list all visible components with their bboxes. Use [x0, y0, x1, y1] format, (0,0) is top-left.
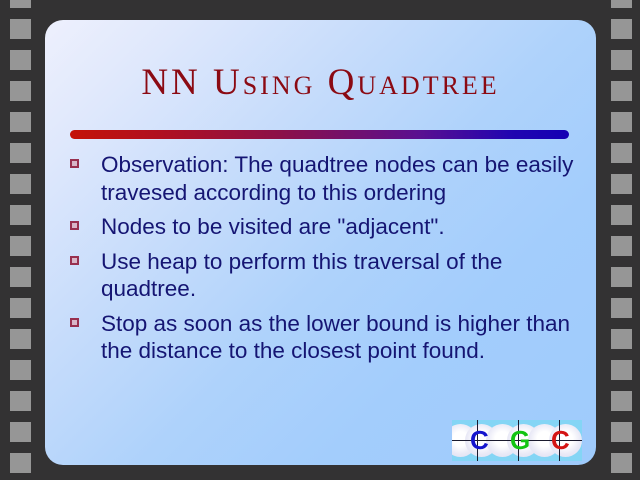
sprocket-hole: [10, 422, 31, 442]
sprocket-hole: [10, 19, 31, 39]
sprocket-hole: [10, 360, 31, 380]
bullet-list: Observation: The quadtree nodes can be e…: [67, 151, 596, 372]
sprocket-hole: [10, 298, 31, 318]
logo-letter-c-blue: C: [470, 427, 489, 453]
page-title: NN Using Quadtree: [45, 64, 596, 101]
logo-letter-g-green: G: [510, 427, 530, 453]
title-divider: [70, 130, 569, 139]
sprocket-hole: [10, 267, 31, 287]
sprocket-hole: [611, 19, 632, 39]
sprocket-hole: [611, 236, 632, 256]
square-bullet-icon: [70, 318, 79, 327]
sprocket-hole: [611, 453, 632, 473]
sprocket-hole: [611, 267, 632, 287]
film-strip-right: [600, 0, 640, 480]
sprocket-hole: [611, 329, 632, 349]
sprocket-hole: [611, 422, 632, 442]
list-item-text: Observation: The quadtree nodes can be e…: [101, 152, 573, 205]
sprocket-hole: [10, 143, 31, 163]
film-strip-frame: NN Using Quadtree Observation: The quadt…: [0, 0, 640, 480]
square-bullet-icon: [70, 256, 79, 265]
list-item-text: Stop as soon as the lower bound is highe…: [101, 311, 570, 364]
sprocket-hole: [10, 0, 31, 8]
sprocket-hole: [611, 143, 632, 163]
logo-letter-c-red: C: [551, 427, 570, 453]
sprocket-hole: [611, 298, 632, 318]
list-item-text: Use heap to perform this traversal of th…: [101, 249, 502, 302]
sprocket-hole: [10, 50, 31, 70]
square-bullet-icon: [70, 159, 79, 168]
sprocket-hole: [611, 205, 632, 225]
sprocket-hole: [10, 174, 31, 194]
sprocket-hole: [10, 391, 31, 411]
list-item: Nodes to be visited are "adjacent".: [67, 213, 596, 241]
list-item-text: Nodes to be visited are "adjacent".: [101, 214, 445, 239]
sprocket-hole: [611, 0, 632, 8]
sprocket-hole: [10, 453, 31, 473]
square-bullet-icon: [70, 221, 79, 230]
sprocket-hole: [10, 329, 31, 349]
sprocket-hole: [10, 205, 31, 225]
sprocket-hole: [611, 112, 632, 132]
sprocket-hole: [611, 81, 632, 101]
sprocket-hole: [611, 174, 632, 194]
list-item: Stop as soon as the lower bound is highe…: [67, 310, 596, 365]
slide-panel: NN Using Quadtree Observation: The quadt…: [45, 20, 596, 465]
list-item: Observation: The quadtree nodes can be e…: [67, 151, 596, 206]
sprocket-hole: [611, 50, 632, 70]
sprocket-hole: [10, 112, 31, 132]
sprocket-hole: [611, 360, 632, 380]
sprocket-hole: [10, 236, 31, 256]
film-strip-left: [0, 0, 40, 480]
sprocket-hole: [10, 81, 31, 101]
sprocket-hole: [611, 391, 632, 411]
cgc-logo: C G C: [452, 420, 582, 461]
list-item: Use heap to perform this traversal of th…: [67, 248, 596, 303]
